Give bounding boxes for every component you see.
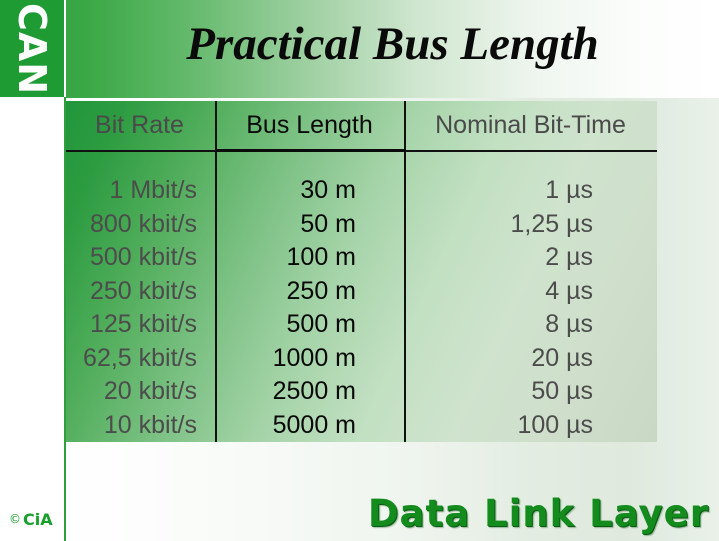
cell-bit-time: 1 µs	[405, 174, 657, 208]
copyright-icon: ©	[9, 512, 21, 526]
bus-length-table: Bit Rate Bus Length Nominal Bit-Time 1 M…	[66, 101, 657, 442]
cell-bus-length: 1000 m	[216, 342, 405, 376]
cell-bus-length: 100 m	[216, 241, 405, 275]
table-row: 125 kbit/s 500 m 8 µs	[66, 308, 657, 342]
cell-bit-time: 20 µs	[405, 342, 657, 376]
column-header-nominal-bit-time: Nominal Bit-Time	[405, 101, 657, 151]
table-header-row: Bit Rate Bus Length Nominal Bit-Time	[66, 101, 657, 151]
table-row: 1 Mbit/s 30 m 1 µs	[66, 174, 657, 208]
table-body: 1 Mbit/s 30 m 1 µs 800 kbit/s 50 m 1,25 …	[66, 151, 657, 443]
table-row: 250 kbit/s 250 m 4 µs	[66, 275, 657, 309]
cell-bit-rate: 125 kbit/s	[66, 308, 216, 342]
spacer-cell-left	[66, 151, 216, 175]
cell-bit-time: 4 µs	[405, 275, 657, 309]
page-title: Practical Bus Length	[66, 16, 719, 72]
slide-header-band: Practical Bus Length	[0, 0, 719, 98]
cell-bit-time: 8 µs	[405, 308, 657, 342]
left-rail: ©CiA	[0, 97, 66, 541]
cell-bit-rate: 1 Mbit/s	[66, 174, 216, 208]
cell-bit-time: 2 µs	[405, 241, 657, 275]
cell-bus-length: 2500 m	[216, 375, 405, 409]
cell-bus-length: 50 m	[216, 208, 405, 242]
table-row: 62,5 kbit/s 1000 m 20 µs	[66, 342, 657, 376]
cell-bit-rate: 800 kbit/s	[66, 208, 216, 242]
table-spacer-row	[66, 151, 657, 175]
can-logo-label: CAN	[13, 2, 51, 94]
bus-length-table-container: Bit Rate Bus Length Nominal Bit-Time 1 M…	[66, 101, 657, 442]
spacer-cell-right	[405, 151, 657, 175]
can-logo: CAN	[0, 0, 66, 97]
table-row: 20 kbit/s 2500 m 50 µs	[66, 375, 657, 409]
cia-label: CiA	[23, 510, 53, 529]
cell-bit-rate: 250 kbit/s	[66, 275, 216, 309]
slide-canvas: Practical Bus Length CAN ©CiA Bit Rate B…	[0, 0, 719, 541]
cell-bit-time: 100 µs	[405, 409, 657, 443]
spacer-cell-center	[216, 151, 405, 175]
cell-bit-rate: 62,5 kbit/s	[66, 342, 216, 376]
cell-bit-time: 50 µs	[405, 375, 657, 409]
cell-bus-length: 30 m	[216, 174, 405, 208]
cell-bus-length: 250 m	[216, 275, 405, 309]
column-header-bus-length: Bus Length	[216, 101, 405, 151]
table-row: 800 kbit/s 50 m 1,25 µs	[66, 208, 657, 242]
cia-copyright: ©CiA	[9, 510, 53, 529]
column-header-bit-rate: Bit Rate	[66, 101, 216, 151]
table-row: 500 kbit/s 100 m 2 µs	[66, 241, 657, 275]
cell-bus-length: 5000 m	[216, 409, 405, 443]
cell-bit-rate: 20 kbit/s	[66, 375, 216, 409]
cell-bit-time: 1,25 µs	[405, 208, 657, 242]
table-row: 10 kbit/s 5000 m 100 µs	[66, 409, 657, 443]
table-header: Bit Rate Bus Length Nominal Bit-Time	[66, 101, 657, 151]
cell-bus-length: 500 m	[216, 308, 405, 342]
cell-bit-rate: 500 kbit/s	[66, 241, 216, 275]
cell-bit-rate: 10 kbit/s	[66, 409, 216, 443]
footer-section-label: Data Link Layer	[368, 492, 709, 535]
